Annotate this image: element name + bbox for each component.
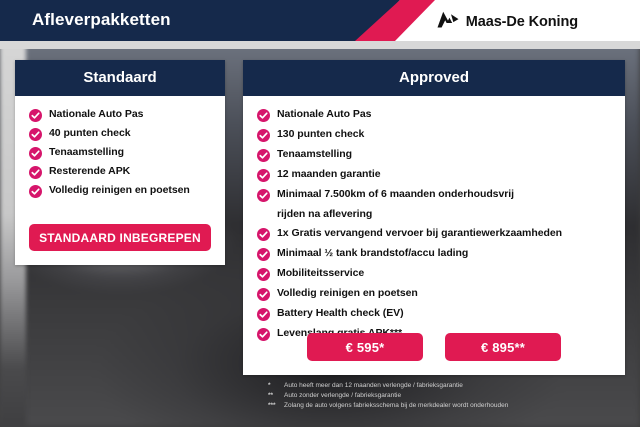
footnote-text: Auto heeft meer dan 12 maanden verlengde… [284,381,463,390]
check-circle-icon [29,109,42,122]
list-item-label: Volledig reinigen en poetsen [49,184,190,197]
check-circle-icon [29,128,42,141]
list-item: Minimaal ½ tank brandstof/accu lading [257,247,611,261]
price-button-595[interactable]: € 595* [307,333,423,361]
footnote-marker: ** [268,392,284,399]
page-title: Afleverpakketten [32,10,171,30]
list-item: Battery Health check (EV) [257,307,611,321]
list-item: Tenaamstelling [257,148,611,162]
footnote-marker: *** [268,402,284,409]
list-item: Volledig reinigen en poetsen [29,184,211,198]
page-header: Afleverpakketten Maas-De Koning [0,0,640,41]
list-item: Minimaal 7.500km of 6 maanden onderhouds… [257,188,611,202]
list-item-label: Nationale Auto Pas [49,108,143,121]
check-circle-icon [257,228,270,241]
list-item-label: Tenaamstelling [277,148,352,161]
card-approved-body: Nationale Auto Pas 130 punten check [243,96,625,341]
price-button-row: € 595* € 895** [243,333,625,361]
footnote-text: Zolang de auto volgens fabrieksschema bi… [284,401,508,410]
maas-de-koning-m-logo-icon [437,11,459,33]
list-item-label: Volledig reinigen en poetsen [277,287,418,300]
list-item-label: 130 punten check [277,128,364,141]
brand-lockup: Maas-De Koning [437,11,578,33]
list-item: Tenaamstelling [29,146,211,160]
card-standaard-title: Standaard [15,60,225,96]
list-item-label: rijden na aflevering [277,208,372,221]
check-circle-icon [257,129,270,142]
check-circle-icon [257,149,270,162]
footnote-row: * Auto heeft meer dan 12 maanden verleng… [268,381,628,390]
afleverpakketten-page: Afleverpakketten Maas-De Koning Standaar… [0,0,640,427]
list-item-label: Battery Health check (EV) [277,307,404,320]
list-item: Resterende APK [29,165,211,179]
check-circle-icon [257,288,270,301]
list-item-label: Nationale Auto Pas [277,108,371,121]
check-circle-icon [29,166,42,179]
price-button-895[interactable]: € 895** [445,333,561,361]
list-item-label: 1x Gratis vervangend vervoer bij garanti… [277,227,562,240]
list-item-label: Mobiliteitsservice [277,267,364,280]
footnote-marker: * [268,382,284,389]
list-item: Nationale Auto Pas [29,108,211,122]
check-circle-icon [257,308,270,321]
list-item: Volledig reinigen en poetsen [257,287,611,301]
list-item: Nationale Auto Pas [257,108,611,122]
check-circle-icon [257,248,270,261]
card-standaard-body: Nationale Auto Pas 40 punten check [15,96,225,198]
check-circle-icon [257,109,270,122]
list-item: 1x Gratis vervangend vervoer bij garanti… [257,227,611,241]
card-approved-title: Approved [243,60,625,96]
card-approved: Approved Nationale Auto Pas [243,60,625,375]
list-item-label: Minimaal 7.500km of 6 maanden onderhouds… [277,188,514,201]
check-circle-icon [257,268,270,281]
footnote-row: ** Auto zonder verlengde / fabrieksgaran… [268,391,628,400]
list-item-label: 12 maanden garantie [277,168,381,181]
check-circle-icon [29,185,42,198]
list-item: 12 maanden garantie [257,168,611,182]
list-item-label: Tenaamstelling [49,146,124,159]
list-item: 40 punten check [29,127,211,141]
check-circle-icon [257,189,270,202]
check-circle-icon [29,147,42,160]
footnote-text: Auto zonder verlengde / fabrieksgarantie [284,391,401,400]
list-item-continuation: rijden na aflevering [257,208,611,221]
card-standaard: Standaard Nationale Auto Pas [15,60,225,265]
footnote-row: *** Zolang de auto volgens fabrieksschem… [268,401,628,410]
check-circle-icon [257,169,270,182]
list-item: Mobiliteitsservice [257,267,611,281]
approved-feature-list: Nationale Auto Pas 130 punten check [257,108,611,341]
list-item-label: Minimaal ½ tank brandstof/accu lading [277,247,468,260]
standaard-inbegrepen-button[interactable]: STANDAARD INBEGREPEN [29,224,211,251]
list-item-label: Resterende APK [49,165,130,178]
list-item: 130 punten check [257,128,611,142]
list-item-label: 40 punten check [49,127,131,140]
header-underband [0,41,640,49]
standaard-feature-list: Nationale Auto Pas 40 punten check [29,108,211,198]
brand-name: Maas-De Koning [466,14,578,30]
footnotes: * Auto heeft meer dan 12 maanden verleng… [268,381,628,411]
